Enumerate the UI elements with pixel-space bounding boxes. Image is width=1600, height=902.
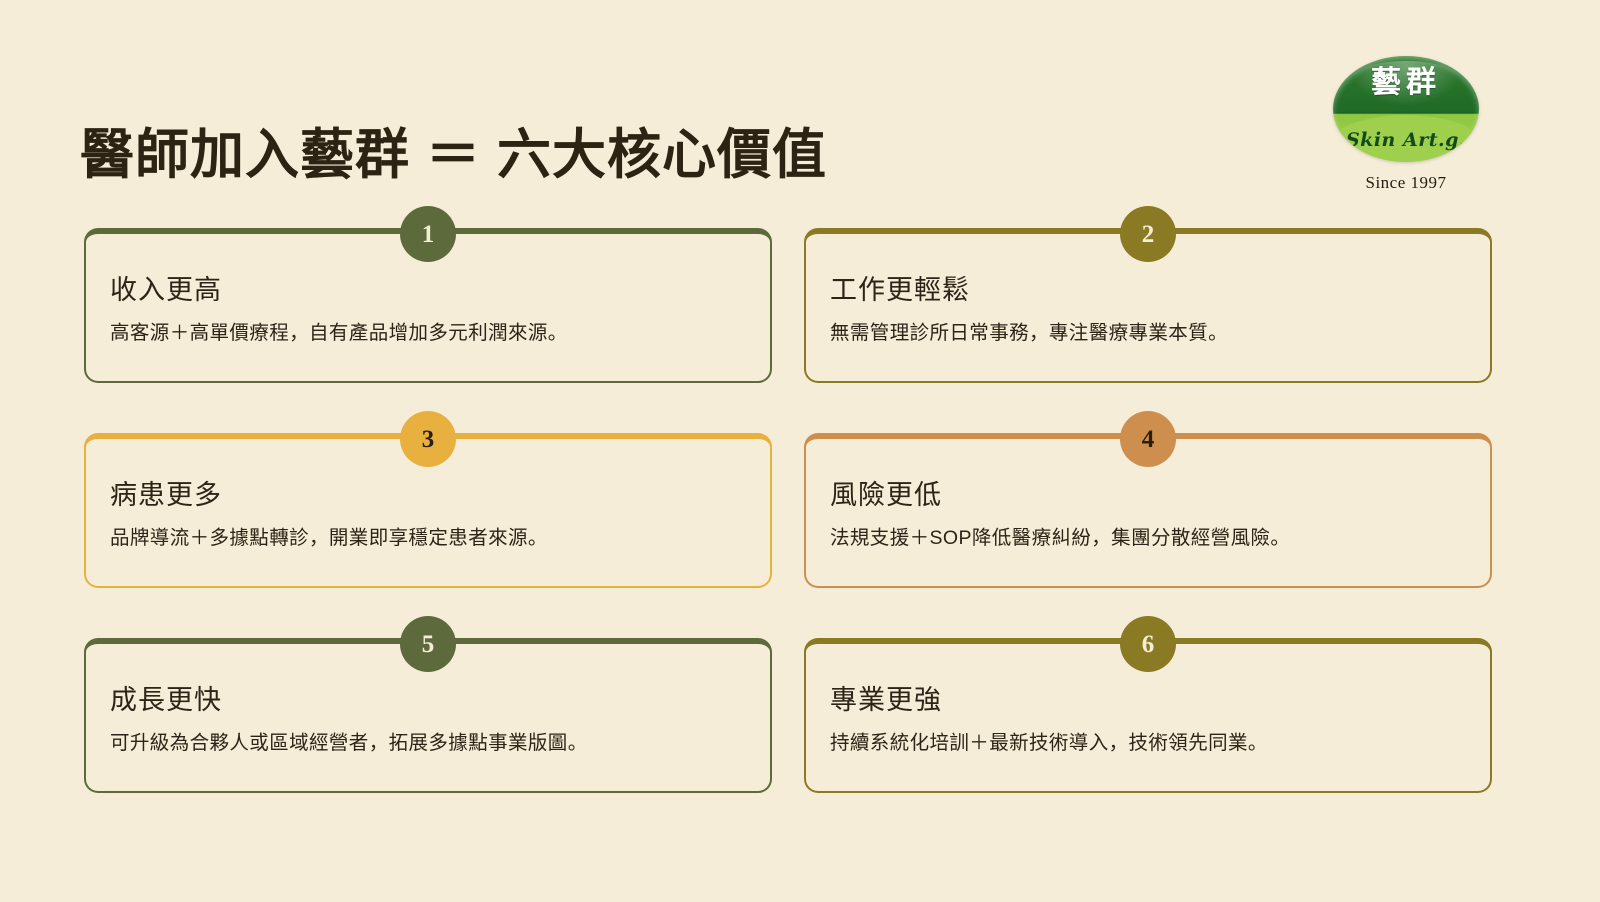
card-heading: 專業更強 xyxy=(830,684,1490,716)
value-card: 6 專業更強 持續系統化培訓＋最新技術導入，技術領先同業。 xyxy=(804,638,1492,793)
logo-tagline: Since 1997 xyxy=(1333,173,1479,193)
card-number-badge: 5 xyxy=(400,616,456,672)
logo-chinese-text: 藝群 xyxy=(1333,68,1479,98)
value-card: 4 風險更低 法規支援＋SOP降低醫療糾紛，集團分散經營風險。 xyxy=(804,433,1492,588)
card-number-badge: 6 xyxy=(1120,616,1176,672)
card-heading: 成長更快 xyxy=(110,684,770,716)
page-title: 醫師加入藝群 ＝ 六大核心價值 xyxy=(80,124,827,186)
logo-oval-icon: 藝群 Skin Art.g. xyxy=(1333,56,1479,162)
card-number-badge: 3 xyxy=(400,411,456,467)
card-heading: 工作更輕鬆 xyxy=(830,274,1490,306)
slide-root: 醫師加入藝群 ＝ 六大核心價值 藝群 Skin Art.g. Since 199… xyxy=(0,0,1600,902)
card-heading: 風險更低 xyxy=(830,479,1490,511)
value-card: 1 收入更高 高客源＋高單價療程，自有產品增加多元利潤來源。 xyxy=(84,228,772,383)
card-description: 法規支援＋SOP降低醫療糾紛，集團分散經營風險。 xyxy=(830,525,1490,552)
card-description: 無需管理診所日常事務，專注醫療專業本質。 xyxy=(830,320,1490,347)
value-card: 2 工作更輕鬆 無需管理診所日常事務，專注醫療專業本質。 xyxy=(804,228,1492,383)
logo-english-text: Skin Art.g. xyxy=(1333,131,1479,150)
card-description: 品牌導流＋多據點轉診，開業即享穩定患者來源。 xyxy=(110,525,770,552)
card-description: 高客源＋高單價療程，自有產品增加多元利潤來源。 xyxy=(110,320,770,347)
value-card: 5 成長更快 可升級為合夥人或區域經營者，拓展多據點事業版圖。 xyxy=(84,638,772,793)
value-cards-grid: 1 收入更高 高客源＋高單價療程，自有產品增加多元利潤來源。 2 工作更輕鬆 無… xyxy=(84,228,1492,793)
card-description: 可升級為合夥人或區域經營者，拓展多據點事業版圖。 xyxy=(110,730,770,757)
card-heading: 收入更高 xyxy=(110,274,770,306)
value-card: 3 病患更多 品牌導流＋多據點轉診，開業即享穩定患者來源。 xyxy=(84,433,772,588)
card-number-badge: 1 xyxy=(400,206,456,262)
card-description: 持續系統化培訓＋最新技術導入，技術領先同業。 xyxy=(830,730,1490,757)
brand-logo: 藝群 Skin Art.g. Since 1997 xyxy=(1333,56,1479,193)
card-number-badge: 4 xyxy=(1120,411,1176,467)
card-heading: 病患更多 xyxy=(110,479,770,511)
card-number-badge: 2 xyxy=(1120,206,1176,262)
